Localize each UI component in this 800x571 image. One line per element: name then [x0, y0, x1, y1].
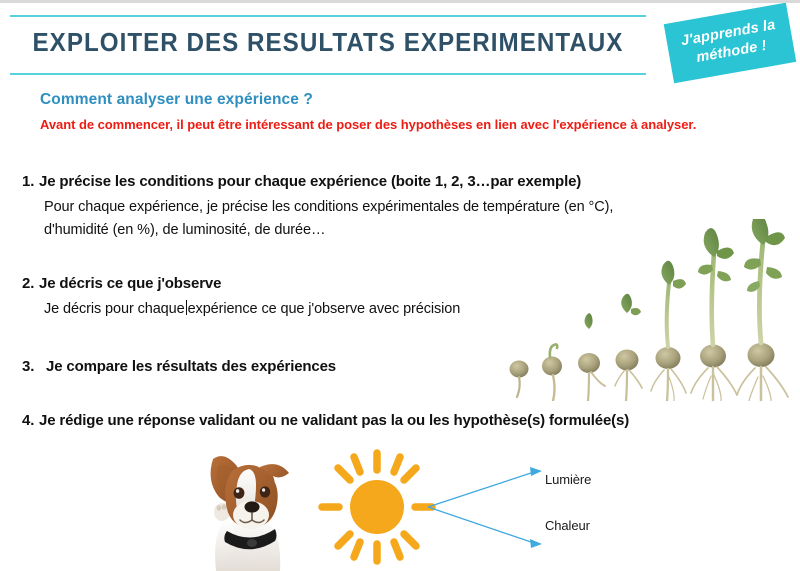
section-subtitle: Comment analyser une expérience ?	[40, 91, 313, 109]
header-rule-bottom	[10, 73, 646, 75]
step-4-heading-text: Je rédige une réponse validant ou ne val…	[39, 412, 629, 429]
sun-disc-icon	[350, 480, 404, 534]
step-4-heading: 4. Je rédige une réponse validant ou ne …	[22, 412, 629, 429]
text-caret	[186, 300, 187, 315]
document-page: EXPLOITER DES RESULTATS EXPERIMENTAUX J'…	[0, 0, 800, 571]
diagram-label-lumiere: Lumière	[545, 472, 591, 487]
diagram-label-chaleur: Chaleur	[545, 518, 590, 533]
step-1-heading-text: Je précise les conditions pour chaque ex…	[39, 173, 581, 190]
step-1-heading: 1. Je précise les conditions pour chaque…	[22, 173, 613, 190]
header-block: EXPLOITER DES RESULTATS EXPERIMENTAUX	[10, 15, 646, 75]
step-item-4: 4. Je rédige une réponse validant ou ne …	[22, 412, 629, 429]
method-badge: J'apprends la méthode !	[664, 3, 797, 84]
step-3-number: 3.	[22, 358, 46, 375]
header-rule-top	[10, 15, 646, 17]
arrow-right-icon-lumiere	[530, 467, 542, 476]
step-2-body: Je décris pour chaqueexpérience ce que j…	[44, 298, 460, 321]
step-2-body-after-caret: expérience ce que j'observe avec précisi…	[188, 301, 461, 317]
seedling-stage-3	[578, 313, 605, 401]
step-3-heading-text: Je compare les résultats des expériences	[46, 358, 336, 375]
page-title: EXPLOITER DES RESULTATS EXPERIMENTAUX	[32, 27, 623, 58]
step-4-number: 4.	[22, 412, 39, 429]
arrow-right-icon-chaleur	[530, 539, 542, 548]
germination-series-figure	[505, 219, 795, 401]
step-item-2: 2. Je décris ce que j'observe Je décris …	[22, 275, 460, 321]
method-badge-label: J'apprends la méthode !	[680, 16, 780, 69]
step-1-body-line-1: Pour chaque expérience, je précise les c…	[44, 196, 613, 219]
step-item-3: 3. Je compare les résultats des expérien…	[22, 358, 336, 375]
dog-listening-photo	[186, 445, 302, 571]
step-1-number: 1.	[22, 173, 39, 190]
seedling-stage-2	[542, 344, 562, 401]
step-2-heading: 2. Je décris ce que j'observe	[22, 275, 460, 292]
step-2-body-before-caret: Je décris pour chaque	[44, 301, 185, 317]
step-3-heading: 3. Je compare les résultats des expérien…	[22, 358, 336, 375]
seedling-stage-1	[510, 361, 529, 398]
seedling-stage-5	[651, 261, 686, 401]
step-2-number: 2.	[22, 275, 39, 292]
seedling-stage-4	[615, 294, 642, 401]
sun-diagram	[316, 447, 616, 567]
seedling-stage-6	[691, 228, 737, 401]
seedling-stage-7	[737, 219, 788, 401]
sun-arrows	[428, 472, 534, 543]
step-2-heading-text: Je décris ce que j'observe	[39, 275, 221, 292]
warning-note: Avant de commencer, il peut être intéres…	[40, 117, 696, 132]
